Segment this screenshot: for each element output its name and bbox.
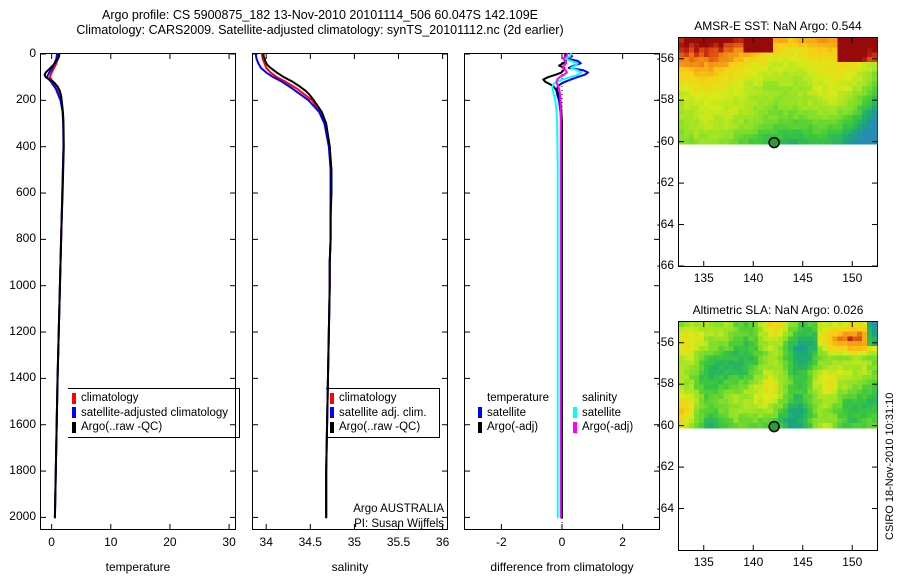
- tick-label: 1400: [0, 370, 36, 384]
- tick-label: 150: [827, 271, 877, 285]
- difference-plot-area: [465, 54, 659, 529]
- salinity-legend-box: [326, 388, 440, 438]
- tick-label: -66: [636, 258, 674, 272]
- temperature-legend-box: [68, 388, 240, 438]
- sla-map-panel: [678, 321, 878, 551]
- tick-label: 150: [827, 555, 877, 569]
- tick-label: -56: [636, 51, 674, 65]
- tick-label: 1000: [0, 278, 36, 292]
- tick-label: -60: [636, 134, 674, 148]
- tick-label: 35: [329, 535, 379, 549]
- legend-label: Argo(-adj): [487, 420, 538, 435]
- legend-label: Argo(-adj): [582, 420, 633, 435]
- argo-credit: Argo AUSTRALIA PI: Susan Wijffels: [248, 502, 444, 531]
- salinity-x-axis-label: salinity: [252, 560, 448, 574]
- tick-label: 2: [598, 535, 648, 549]
- tick-label: 145: [778, 555, 828, 569]
- tick-label: 20: [145, 535, 195, 549]
- argo-profile-figure: Argo profile: CS 5900875_182 13-Nov-2010…: [0, 0, 900, 580]
- tick-label: 35.5: [374, 535, 424, 549]
- figure-title-line-2: Climatology: CARS2009. Satellite-adjuste…: [0, 23, 640, 38]
- tick-label: 200: [0, 92, 36, 106]
- tick-label: -58: [636, 376, 674, 390]
- legend-swatch-salinity-satellite: [573, 407, 577, 418]
- sla-map-title: Altimetric SLA: NaN Argo: 0.026: [678, 303, 878, 317]
- tick-label: 1200: [0, 324, 36, 338]
- legend-swatch-temperature-argo: [478, 422, 482, 433]
- tick-label: 36: [418, 535, 468, 549]
- tick-label: -56: [636, 335, 674, 349]
- legend-item: Argo(-adj): [478, 420, 549, 435]
- sla-map-plot-area: [679, 322, 877, 550]
- tick-label: 135: [679, 555, 729, 569]
- credit-line-1: Argo AUSTRALIA: [248, 502, 444, 517]
- tick-label: 145: [778, 271, 828, 285]
- tick-label: -62: [636, 175, 674, 189]
- tick-label: 800: [0, 231, 36, 245]
- tick-label: 1800: [0, 463, 36, 477]
- tick-label: 0: [27, 535, 77, 549]
- legend-item: satellite: [478, 406, 549, 421]
- legend-label: satellite: [487, 406, 526, 421]
- tick-label: 10: [86, 535, 136, 549]
- csiro-timestamp: CSIRO 18-Nov-2010 10:31:10: [884, 393, 896, 540]
- tick-label: 400: [0, 139, 36, 153]
- tick-label: -60: [636, 418, 674, 432]
- tick-label: 135: [679, 271, 729, 285]
- temperature-x-axis-label: temperature: [40, 560, 236, 574]
- tick-label: 600: [0, 185, 36, 199]
- sst-map-title: AMSR-E SST: NaN Argo: 0.544: [678, 19, 878, 33]
- legend-swatch-salinity-argo: [573, 422, 577, 433]
- tick-label: 1600: [0, 417, 36, 431]
- figure-title-line-1: Argo profile: CS 5900875_182 13-Nov-2010…: [0, 8, 640, 23]
- salinity-plot-area: [253, 54, 447, 529]
- tick-label: -2: [476, 535, 526, 549]
- sst-map-panel: [678, 37, 878, 267]
- temperature-plot-area: [41, 54, 235, 529]
- tick-label: -64: [636, 217, 674, 231]
- legend-header: temperature: [478, 391, 549, 406]
- difference-legend: temperature satellite Argo(-adj) salinit…: [478, 391, 633, 435]
- difference-x-axis-label: difference from climatology: [464, 560, 660, 574]
- figure-title: Argo profile: CS 5900875_182 13-Nov-2010…: [0, 8, 640, 38]
- tick-label: -58: [636, 92, 674, 106]
- temperature-panel: [40, 53, 236, 530]
- tick-label: 0: [537, 535, 587, 549]
- tick-label: 140: [728, 555, 778, 569]
- legend-label: satellite: [582, 406, 621, 421]
- tick-label: -62: [636, 459, 674, 473]
- credit-line-2: PI: Susan Wijffels: [248, 517, 444, 532]
- tick-label: 0: [0, 46, 36, 60]
- tick-label: 140: [728, 271, 778, 285]
- tick-label: 34: [241, 535, 291, 549]
- legend-header: salinity: [573, 391, 633, 406]
- difference-panel: [464, 53, 660, 530]
- difference-legend-temperature-column: temperature satellite Argo(-adj): [478, 391, 549, 435]
- sst-map-plot-area: [679, 38, 877, 266]
- legend-item: satellite: [573, 406, 633, 421]
- salinity-panel: [252, 53, 448, 530]
- tick-label: -64: [636, 501, 674, 515]
- legend-item: Argo(-adj): [573, 420, 633, 435]
- tick-label: 34.5: [285, 535, 335, 549]
- tick-label: 2000: [0, 509, 36, 523]
- difference-legend-salinity-column: salinity satellite Argo(-adj): [573, 391, 633, 435]
- legend-swatch-temperature-satellite: [478, 407, 482, 418]
